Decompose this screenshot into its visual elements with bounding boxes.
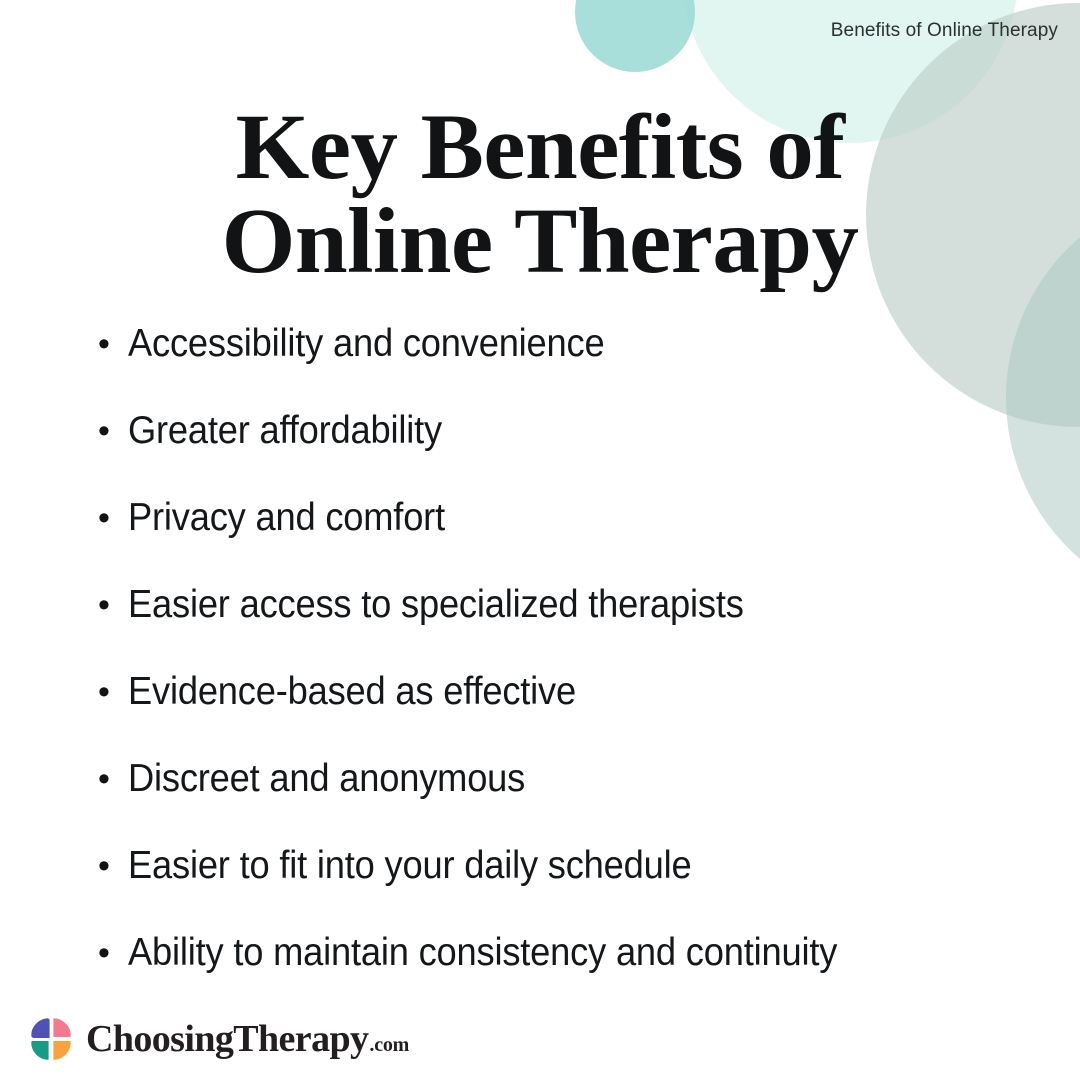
- list-item: • Ability to maintain consistency and co…: [98, 927, 1048, 1014]
- list-item-label: Easier access to specialized therapists: [128, 579, 744, 631]
- teal-circle-top: [575, 0, 695, 72]
- infographic-slide: Benefits of Online Therapy Key Benefits …: [0, 0, 1080, 1080]
- list-item-label: Ability to maintain consistency and cont…: [128, 927, 837, 979]
- list-item: • Privacy and comfort: [98, 492, 1048, 579]
- benefits-list: • Accessibility and convenience • Greate…: [98, 318, 1048, 1014]
- list-item: • Greater affordability: [98, 405, 1048, 492]
- bullet-dot-icon: •: [98, 579, 128, 631]
- list-item-label: Privacy and comfort: [128, 492, 445, 544]
- page-title: Key Benefits of Online Therapy: [0, 104, 1080, 287]
- list-item: • Discreet and anonymous: [98, 753, 1048, 840]
- brand-name: ChoosingTherapy: [86, 1020, 368, 1058]
- list-item: • Evidence-based as effective: [98, 666, 1048, 753]
- list-item: • Easier access to specialized therapist…: [98, 579, 1048, 666]
- list-item-label: Accessibility and convenience: [128, 318, 604, 370]
- bullet-dot-icon: •: [98, 753, 128, 805]
- bullet-dot-icon: •: [98, 318, 128, 370]
- brand-tld: .com: [369, 1035, 409, 1055]
- bullet-dot-icon: •: [98, 492, 128, 544]
- bullet-dot-icon: •: [98, 405, 128, 457]
- list-item: • Accessibility and convenience: [98, 318, 1048, 405]
- list-item: • Easier to fit into your daily schedule: [98, 840, 1048, 927]
- header-eyebrow-label: Benefits of Online Therapy: [831, 20, 1058, 42]
- page-title-line-1: Key Benefits of: [0, 104, 1080, 192]
- list-item-label: Evidence-based as effective: [128, 666, 576, 718]
- list-item-label: Easier to fit into your daily schedule: [128, 840, 691, 892]
- page-title-line-2: Online Therapy: [0, 198, 1080, 286]
- choosingtherapy-logo-icon: [28, 1016, 74, 1062]
- brand-footer[interactable]: ChoosingTherapy .com: [28, 1016, 409, 1062]
- list-item-label: Discreet and anonymous: [128, 753, 525, 805]
- bullet-dot-icon: •: [98, 666, 128, 718]
- list-item-label: Greater affordability: [128, 405, 442, 457]
- bullet-dot-icon: •: [98, 927, 128, 979]
- bullet-dot-icon: •: [98, 840, 128, 892]
- brand-wordmark: ChoosingTherapy .com: [86, 1020, 409, 1058]
